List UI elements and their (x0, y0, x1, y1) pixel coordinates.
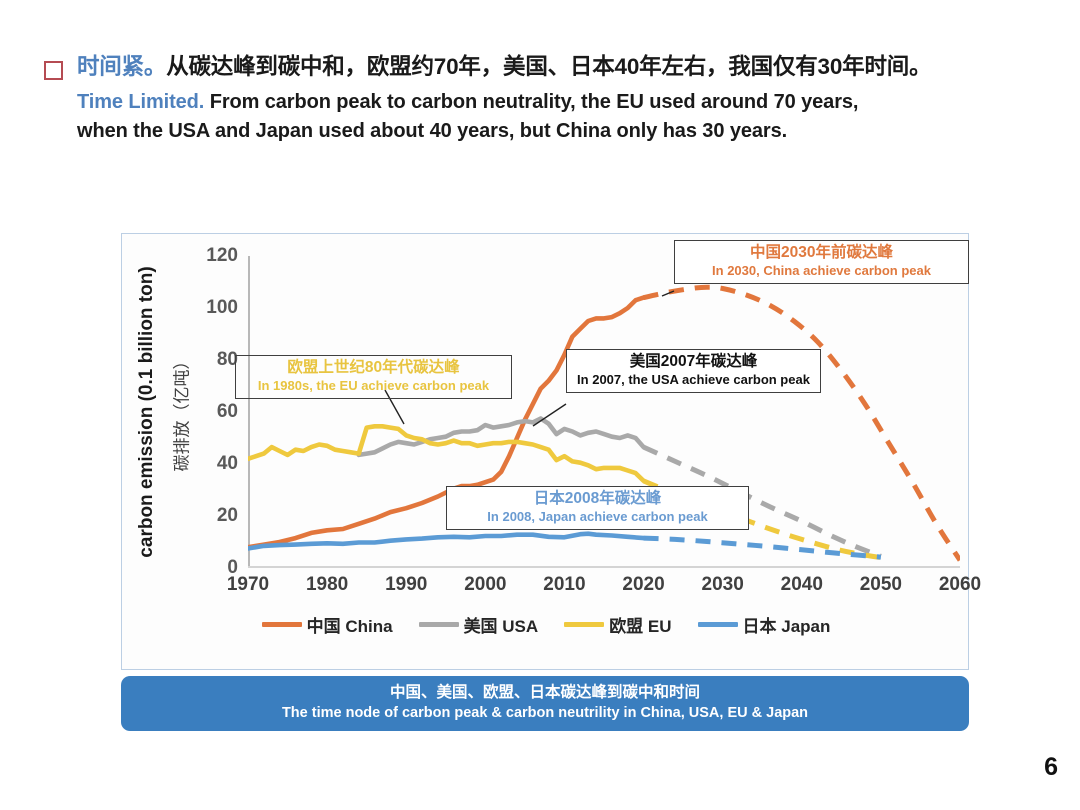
headline-bullet-row: 时间紧。从碳达峰到碳中和，欧盟约70年，美国、日本40年左右，我国仅有30年时间… (44, 52, 1044, 146)
slide-header: 时间紧。从碳达峰到碳中和，欧盟约70年，美国、日本40年左右，我国仅有30年时间… (44, 52, 1044, 146)
legend-swatch-icon (419, 622, 459, 627)
square-outline-icon (44, 61, 63, 80)
callout-usa-en: In 2007, the USA achieve carbon peak (574, 372, 813, 388)
legend-swatch-icon (564, 622, 604, 627)
callout-usa-cn: 美国2007年碳达峰 (574, 353, 813, 372)
legend-label: 中国 China (307, 612, 393, 637)
chart-panel: carbon emission (0.1 billion ton) 碳排放（亿吨… (121, 233, 969, 670)
caption-cn: 中国、美国、欧盟、日本碳达峰到碳中和时间 (390, 683, 700, 704)
headline-en-highlight: Time Limited. (77, 91, 204, 113)
legend-item[interactable]: 欧盟 EU (564, 612, 671, 637)
headline-en-rest: From carbon peak to carbon neutrality, t… (204, 91, 858, 113)
callout-eu-peak: 欧盟上世纪80年代碳达峰 In 1980s, the EU achieve ca… (235, 355, 512, 399)
legend-label: 美国 USA (464, 612, 539, 637)
legend-swatch-icon (262, 622, 302, 627)
callout-japan-peak: 日本2008年碳达峰 In 2008, Japan achieve carbon… (446, 486, 749, 530)
legend-label: 欧盟 EU (609, 612, 671, 637)
legend-item[interactable]: 日本 Japan (698, 612, 831, 637)
caption-en: The time node of carbon peak & carbon ne… (282, 704, 808, 724)
legend-swatch-icon (698, 622, 738, 627)
callout-japan-en: In 2008, Japan achieve carbon peak (454, 509, 741, 525)
caption-bar: 中国、美国、欧盟、日本碳达峰到碳中和时间 The time node of ca… (121, 676, 969, 731)
legend-label: 日本 Japan (743, 612, 831, 637)
headline-line-en-1: Time Limited. From carbon peak to carbon… (77, 88, 1044, 117)
callout-usa-peak: 美国2007年碳达峰 In 2007, the USA achieve carb… (566, 349, 821, 393)
callout-leader-lines (122, 234, 970, 589)
page-number: 6 (1044, 753, 1058, 782)
headline-line-en-2: when the USA and Japan used about 40 yea… (77, 117, 1044, 146)
legend-item[interactable]: 中国 China (262, 612, 393, 637)
headline-text-block: 时间紧。从碳达峰到碳中和，欧盟约70年，美国、日本40年左右，我国仅有30年时间… (77, 52, 1044, 146)
headline-line-cn: 时间紧。从碳达峰到碳中和，欧盟约70年，美国、日本40年左右，我国仅有30年时间… (77, 52, 1044, 82)
headline-cn-rest: 从碳达峰到碳中和，欧盟约70年，美国、日本40年左右，我国仅有30年时间。 (166, 54, 931, 79)
callout-china-peak: 中国2030年前碳达峰 In 2030, China achieve carbo… (674, 240, 969, 284)
chart-legend: 中国 China美国 USA欧盟 EU日本 Japan (122, 612, 970, 637)
legend-item[interactable]: 美国 USA (419, 612, 539, 637)
callout-japan-cn: 日本2008年碳达峰 (454, 490, 741, 509)
plot-area-wrapper: carbon emission (0.1 billion ton) 碳排放（亿吨… (122, 234, 970, 589)
headline-cn-highlight: 时间紧。 (77, 54, 166, 79)
callout-china-cn: 中国2030年前碳达峰 (682, 244, 961, 263)
callout-eu-en: In 1980s, the EU achieve carbon peak (243, 378, 504, 394)
callout-china-en: In 2030, China achieve carbon peak (682, 263, 961, 279)
callout-eu-cn: 欧盟上世纪80年代碳达峰 (243, 359, 504, 378)
